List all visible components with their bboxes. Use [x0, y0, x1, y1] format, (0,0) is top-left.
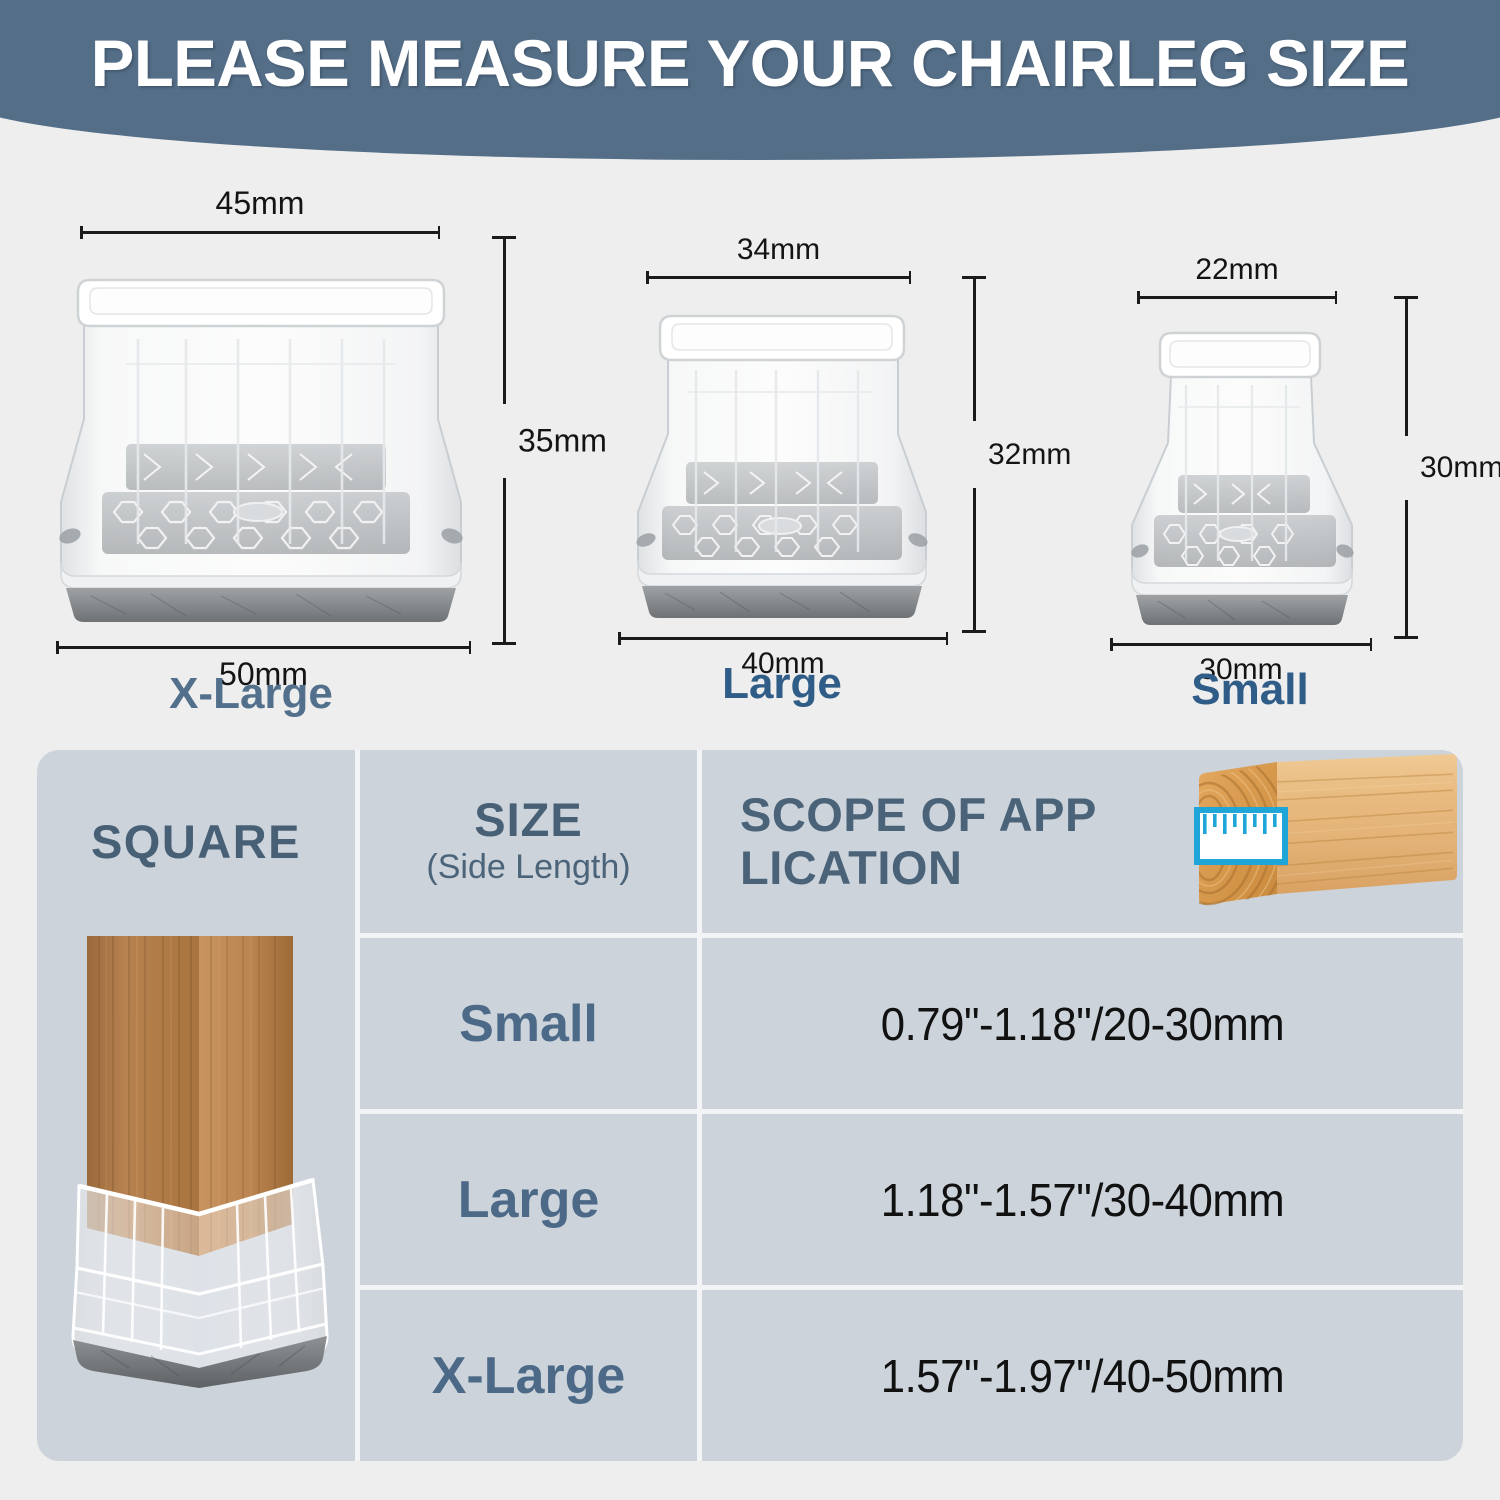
table-row-size-large: Large	[360, 1114, 697, 1285]
product-xlarge: 45mm	[36, 176, 566, 736]
dim-line	[80, 231, 440, 234]
dim-cap-left	[646, 271, 649, 284]
size-spec-table: SQUARE SIZE (Side Length) SCOPE OF APP L…	[37, 750, 1463, 1461]
dim-small-height: 30mm	[1390, 296, 1422, 640]
dim-label: 22mm	[1137, 253, 1337, 287]
large-cap-illustration	[610, 284, 955, 634]
dim-cap-left	[56, 641, 59, 654]
dim-cap-left	[618, 632, 621, 645]
product-large: 34mm	[600, 234, 1070, 734]
dim-line-lower	[503, 478, 506, 644]
product-label-large: Large	[582, 662, 982, 706]
xlarge-cap-illustration	[46, 244, 476, 644]
table-header-square: SQUARE	[37, 750, 355, 933]
small-cap-illustration	[1100, 303, 1390, 643]
table-header-size: SIZE (Side Length)	[360, 750, 697, 933]
table-header-scope: SCOPE OF APP LICATION	[702, 750, 1463, 933]
table-row-size-xlarge: X-Large	[360, 1290, 697, 1461]
dim-label: 35mm	[518, 423, 607, 460]
dim-cap-bottom	[492, 642, 516, 645]
header-banner: PLEASE MEASURE YOUR CHAIRLEG SIZE	[0, 0, 1500, 172]
product-label-xlarge: X-Large	[0, 672, 516, 716]
table-header-scope-text: SCOPE OF APP LICATION	[702, 789, 1122, 894]
dim-cap-right	[469, 641, 472, 654]
dim-label: 32mm	[988, 438, 1071, 472]
product-label-small: Small	[1070, 668, 1430, 712]
dim-cap-bottom	[962, 630, 986, 633]
dim-large-height: 32mm	[958, 276, 990, 634]
dim-cap-bottom	[1394, 636, 1418, 639]
dim-line-lower	[1405, 500, 1408, 638]
table-row-size-small: Small	[360, 938, 697, 1109]
table-header-size-main: SIZE	[474, 795, 582, 844]
dim-label: 30mm	[1420, 451, 1500, 485]
table-row-scope-large: 1.18"-1.57"/30-40mm	[721, 1114, 1444, 1285]
table-row-scope-xlarge: 1.57"-1.97"/40-50mm	[721, 1290, 1444, 1461]
dim-line	[1110, 643, 1372, 646]
dim-line-upper	[1405, 296, 1408, 436]
dim-xlarge-top-width: 45mm	[80, 226, 440, 238]
table-row-scope-small: 0.79"-1.18"/20-30mm	[721, 938, 1444, 1109]
dim-large-bottom-width: 40mm	[618, 632, 948, 644]
dim-xlarge-height: 35mm	[488, 236, 520, 646]
dim-cap-right	[438, 226, 441, 239]
dim-xlarge-bottom-width: 50mm	[56, 641, 471, 653]
dim-line-lower	[973, 488, 976, 632]
product-showcase-row: 45mm	[0, 176, 1500, 736]
table-header-size-sub: (Side Length)	[426, 847, 630, 888]
dim-small-top-width: 22mm	[1137, 291, 1337, 303]
dim-cap-right	[909, 271, 912, 284]
dim-line-upper	[503, 236, 506, 404]
dim-small-bottom-width: 30mm	[1110, 638, 1372, 650]
dim-cap-right	[1370, 638, 1373, 651]
product-small: 22mm	[1090, 256, 1490, 736]
wooden-chair-leg-with-cap-icon	[51, 936, 351, 1461]
dim-cap-right	[946, 632, 949, 645]
dim-cap-left	[1110, 638, 1113, 651]
dim-line	[646, 276, 911, 279]
dim-label: 45mm	[80, 185, 440, 222]
dim-line	[56, 646, 471, 649]
wood-block-ruler-icon	[1185, 750, 1457, 926]
page-title: PLEASE MEASURE YOUR CHAIRLEG SIZE	[8, 30, 1493, 96]
dim-line	[618, 637, 948, 640]
dim-line	[1137, 296, 1337, 299]
dim-large-top-width: 34mm	[646, 271, 911, 283]
dim-cap-left	[80, 226, 83, 239]
dim-label: 34mm	[646, 233, 911, 267]
dim-line-upper	[973, 276, 976, 421]
